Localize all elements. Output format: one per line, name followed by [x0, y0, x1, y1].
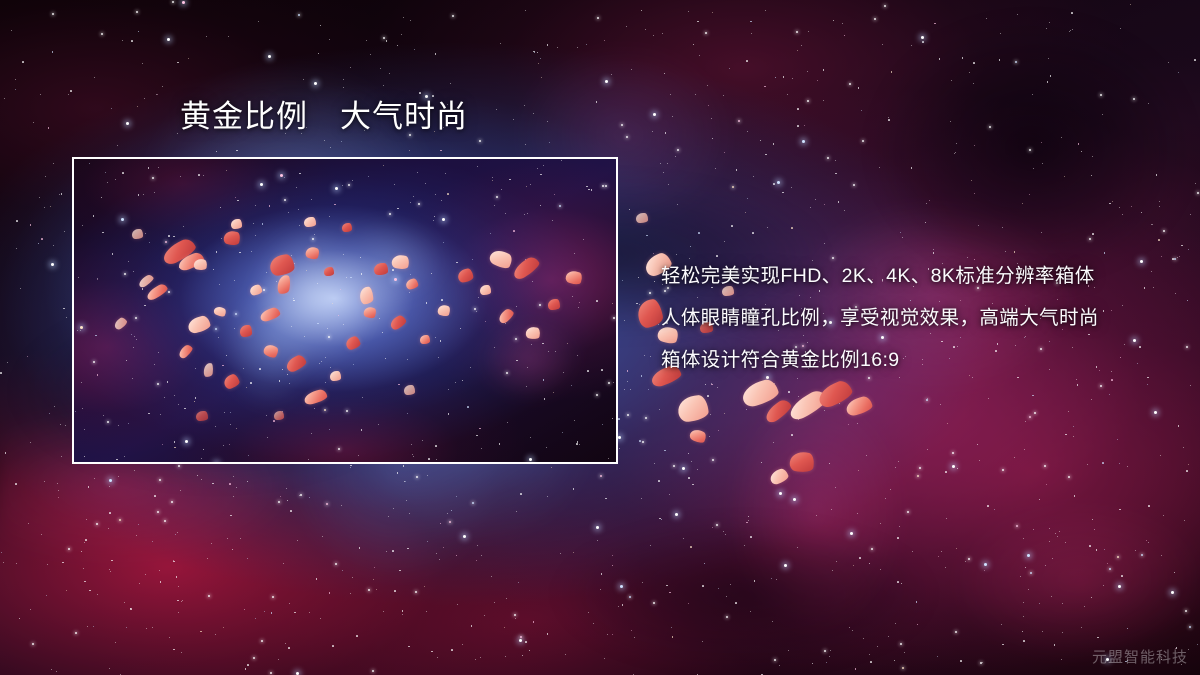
petal [145, 282, 169, 302]
petal [815, 378, 854, 410]
petal [177, 343, 194, 360]
petal [324, 267, 334, 276]
petal [303, 388, 328, 406]
watermark-label: 元盟智能科技 [1092, 646, 1188, 667]
petal [480, 285, 491, 295]
petal [457, 268, 474, 283]
galaxy-image-petals [74, 159, 616, 462]
petal [213, 305, 228, 318]
petal [844, 395, 873, 418]
petal [274, 411, 284, 420]
petal [420, 335, 430, 344]
petal [193, 258, 208, 271]
petal [763, 397, 794, 425]
petal [231, 219, 242, 229]
presentation-slide: 黄金比例 大气时尚 轻松完美实现FHD、2K、4K、8K标准分辨率箱体 人体眼睛… [0, 0, 1200, 675]
petal [636, 213, 648, 223]
body-text-block: 轻松完美实现FHD、2K、4K、8K标准分辨率箱体 人体眼睛瞳孔比例，享受视觉效… [661, 255, 1161, 381]
petal [259, 306, 281, 323]
petal [359, 286, 374, 304]
petal [222, 373, 241, 390]
petal [525, 326, 541, 340]
petal [304, 217, 316, 227]
petal [249, 284, 263, 296]
petal [488, 247, 515, 271]
petal [196, 411, 208, 421]
body-line-3: 箱体设计符合黄金比例16:9 [661, 339, 1161, 381]
petal [405, 278, 419, 290]
petal [739, 377, 780, 409]
petal [676, 394, 709, 423]
petal [342, 223, 352, 232]
petal [388, 314, 407, 332]
petal [330, 371, 341, 381]
petal [113, 316, 129, 331]
petal [789, 450, 816, 473]
galaxy-image-frame [72, 157, 618, 464]
body-line-2: 人体眼睛瞳孔比例，享受视觉效果，高端大气时尚 [661, 297, 1161, 339]
page-title: 黄金比例 大气时尚 [180, 100, 468, 135]
petal [284, 353, 308, 373]
petal [269, 253, 296, 276]
petal [404, 385, 415, 395]
body-line-1: 轻松完美实现FHD、2K、4K、8K标准分辨率箱体 [661, 255, 1161, 297]
petal [223, 229, 242, 246]
petal [362, 305, 377, 319]
petal [132, 229, 143, 239]
petal [548, 299, 560, 310]
petal [497, 307, 516, 325]
petal [203, 363, 213, 378]
petal [391, 253, 411, 270]
petal [240, 325, 252, 337]
petal [137, 273, 155, 289]
petal [344, 335, 361, 351]
petal [437, 303, 452, 317]
petal [304, 245, 320, 261]
petal [262, 342, 280, 359]
petal [374, 263, 388, 275]
petal [564, 269, 583, 286]
petal [768, 467, 790, 486]
petal [187, 315, 212, 335]
petal [510, 254, 541, 281]
petal [786, 387, 830, 423]
petal [277, 274, 292, 294]
petal [688, 427, 707, 444]
